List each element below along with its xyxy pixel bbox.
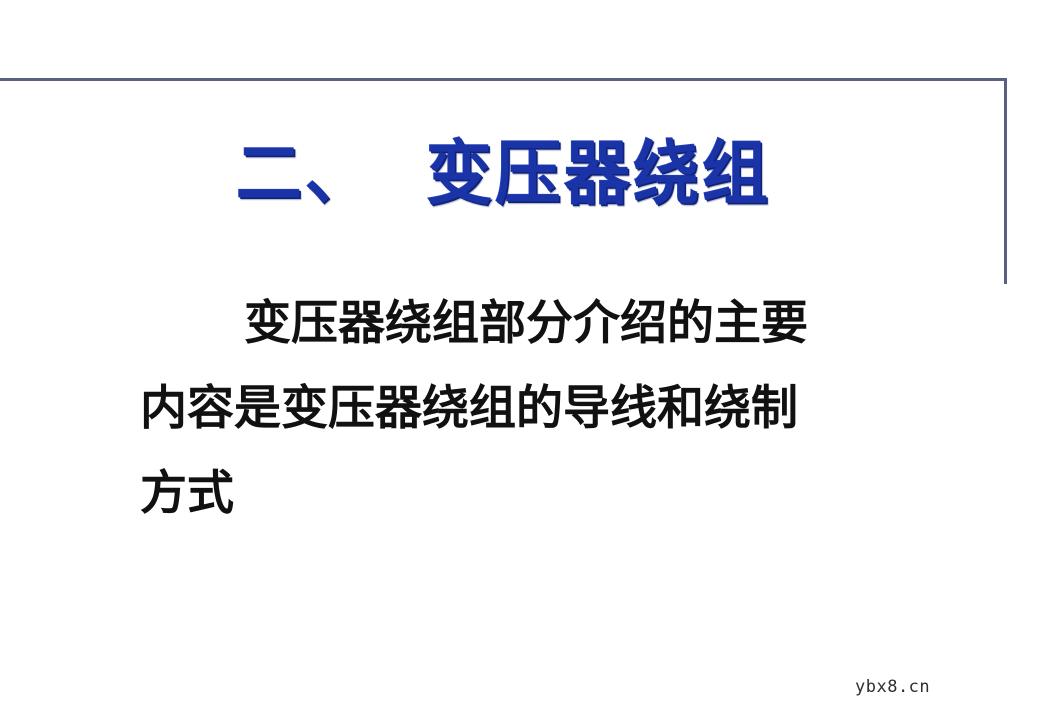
body-text-block: 变压器绕组部分介绍的主要 内容是变压器绕组的导线和绕制 方式 — [140, 300, 930, 517]
body-line-3: 方式 — [140, 470, 930, 517]
slide-canvas: 二、 变压器绕组 变压器绕组部分介绍的主要 内容是变压器绕组的导线和绕制 方式 … — [0, 0, 1040, 720]
slide-title-container: 二、 变压器绕组 — [0, 138, 1007, 209]
top-horizontal-rule — [0, 78, 1007, 81]
watermark-label: ybx8.cn — [855, 677, 930, 697]
body-line-1: 变压器绕组部分介绍的主要 — [140, 300, 930, 347]
page-title: 二、 变压器绕组 — [236, 136, 771, 212]
body-line-2: 内容是变压器绕组的导线和绕制 — [140, 385, 930, 432]
